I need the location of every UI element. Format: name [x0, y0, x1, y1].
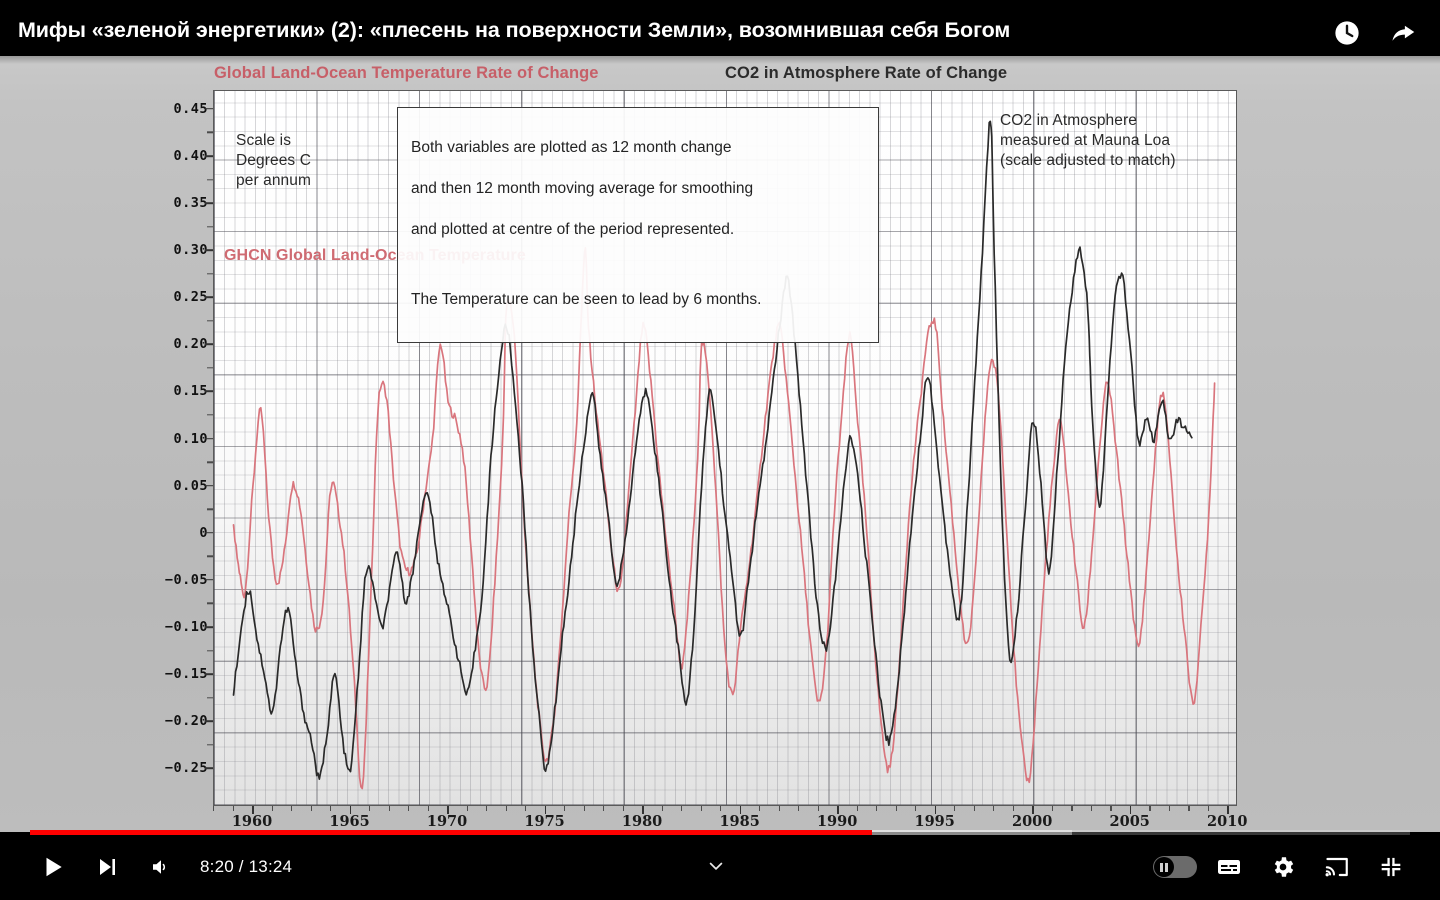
x-axis-minor-tick [291, 806, 292, 811]
y-axis-tick-label: −0.15 [118, 666, 208, 682]
x-axis-minor-tick [525, 806, 526, 811]
progress-played [30, 830, 872, 835]
next-video-button[interactable] [80, 846, 134, 888]
x-axis-minor-tick [506, 806, 507, 811]
method-note-spacer [411, 261, 865, 270]
video-title: Мифы «зеленой энергетики» (2): «плесень … [18, 18, 1010, 43]
y-axis-tick-label: −0.25 [118, 760, 208, 776]
x-axis-minor-tick [857, 806, 858, 811]
settings-gear-icon[interactable] [1256, 846, 1310, 888]
player-controls-bar: 8:20 / 13:24 [0, 832, 1440, 900]
x-axis-minor-tick [311, 806, 312, 811]
watch-later-icon[interactable] [1332, 18, 1362, 48]
cast-icon[interactable] [1310, 846, 1364, 888]
x-axis-minor-tick [993, 806, 994, 811]
method-note-line-3: and plotted at centre of the period repr… [411, 220, 865, 241]
method-note-line-4: The Temperature can be seen to lead by 6… [411, 290, 865, 311]
x-axis-minor-tick [896, 806, 897, 811]
x-axis-minor-tick [1071, 806, 1072, 811]
x-axis-minor-tick [584, 806, 585, 811]
y-axis-tick-label: 0.40 [118, 148, 208, 164]
top-right-controls [1332, 18, 1418, 48]
x-axis-minor-tick [876, 806, 877, 811]
x-axis-minor-tick [681, 806, 682, 811]
x-axis-minor-tick [428, 806, 429, 811]
x-axis-minor-tick [798, 806, 799, 811]
x-axis-minor-tick [272, 806, 273, 811]
pause-icon [1154, 857, 1174, 877]
x-axis-minor-tick [915, 806, 916, 811]
y-axis-tick-label: 0.05 [118, 478, 208, 494]
x-axis-minor-tick [1169, 806, 1170, 811]
x-axis-minor-tick [1110, 806, 1111, 811]
x-axis-minor-tick [1091, 806, 1092, 811]
y-axis-tick-label: 0 [118, 525, 208, 541]
share-icon[interactable] [1388, 18, 1418, 48]
x-axis-minor-tick [564, 806, 565, 811]
y-axis-tick-label: 0.25 [118, 289, 208, 305]
progress-bar[interactable] [0, 827, 1440, 837]
x-axis-minor-tick [779, 806, 780, 811]
video-frame[interactable]: Global Land-Ocean Temperature Rate of Ch… [0, 56, 1440, 832]
annotation-method-box: Both variables are plotted as 12 month c… [397, 107, 879, 343]
x-axis-minor-tick [759, 806, 760, 811]
autoplay-toggle[interactable] [1148, 846, 1202, 888]
subtitles-icon[interactable] [1202, 846, 1256, 888]
time-display: 8:20 / 13:24 [200, 857, 292, 877]
annotation-scale-note: Scale is Degrees C per annum [236, 131, 311, 191]
volume-button[interactable] [134, 846, 188, 888]
left-controls: 8:20 / 13:24 [26, 846, 300, 888]
x-axis-minor-tick [1052, 806, 1053, 811]
x-axis-minor-tick [701, 806, 702, 811]
y-axis-tick-label: 0.45 [118, 101, 208, 117]
chart: Global Land-Ocean Temperature Rate of Ch… [0, 56, 1440, 832]
x-axis-minor-tick [1149, 806, 1150, 811]
x-axis-minor-tick [954, 806, 955, 811]
x-axis-minor-tick [233, 806, 234, 811]
y-axis-tick-label: 0.30 [118, 242, 208, 258]
y-axis-tick-label: −0.05 [118, 572, 208, 588]
x-axis-minor-tick [213, 806, 214, 811]
x-axis-minor-tick [389, 806, 390, 811]
chart-heading-co2: CO2 in Atmosphere Rate of Change [725, 64, 1007, 83]
x-axis-minor-tick [1013, 806, 1014, 811]
method-note-line-1: Both variables are plotted as 12 month c… [411, 138, 865, 159]
y-axis-tick-label: 0.35 [118, 195, 208, 211]
youtube-player: Global Land-Ocean Temperature Rate of Ch… [0, 0, 1440, 900]
plot-area: Scale is Degrees C per annum GHCN Global… [213, 90, 1237, 806]
y-axis-tick-label: 0.15 [118, 383, 208, 399]
y-axis-tick-label: −0.20 [118, 713, 208, 729]
x-axis-minor-tick [486, 806, 487, 811]
x-axis-minor-tick [1188, 806, 1189, 811]
x-axis-minor-tick [720, 806, 721, 811]
annotation-co2-note: CO2 in Atmosphere measured at Mauna Loa … [1000, 111, 1176, 171]
y-axis-tick-label: 0.10 [118, 431, 208, 447]
chevron-down-icon[interactable] [706, 856, 726, 881]
exit-fullscreen-icon[interactable] [1364, 846, 1418, 888]
x-axis-minor-tick [818, 806, 819, 811]
x-axis-minor-tick [603, 806, 604, 811]
x-axis-minor-tick [467, 806, 468, 811]
x-axis-minor-tick [408, 806, 409, 811]
autoplay-switch[interactable] [1153, 856, 1197, 878]
right-controls [1148, 846, 1418, 888]
x-axis-minor-tick [662, 806, 663, 811]
x-axis-minor-tick [974, 806, 975, 811]
y-axis-tick-label: −0.10 [118, 619, 208, 635]
play-button[interactable] [26, 846, 80, 888]
x-axis-minor-tick [623, 806, 624, 811]
progress-track[interactable] [30, 830, 1410, 835]
x-axis-minor-tick [1208, 806, 1209, 811]
x-axis-minor-tick [369, 806, 370, 811]
x-axis-minor-tick [330, 806, 331, 811]
method-note-line-2: and then 12 month moving average for smo… [411, 179, 865, 200]
chart-heading-temperature: Global Land-Ocean Temperature Rate of Ch… [214, 64, 599, 83]
y-axis-tick-label: 0.20 [118, 336, 208, 352]
